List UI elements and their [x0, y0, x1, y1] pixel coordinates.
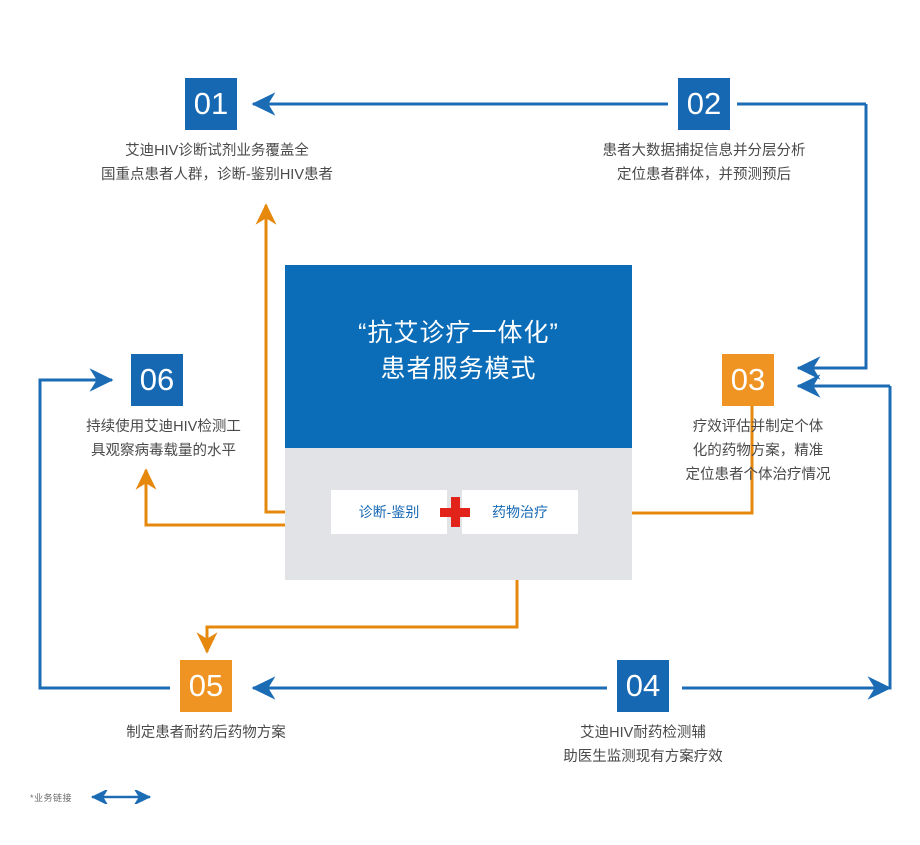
node-04-description: 艾迪HIV耐药检测辅 助医生监测现有方案疗效: [543, 721, 743, 769]
node-05-number: 05: [189, 668, 223, 704]
node-03[interactable]: 03 疗效评估并制定个体 化的药物方案，精准 定位患者个体治疗情况: [722, 354, 842, 487]
node-04[interactable]: 04 艾迪HIV耐药检测辅 助医生监测现有方案疗效: [617, 660, 743, 769]
center-title-line2: 患者服务模式: [285, 351, 632, 387]
node-06-description: 持续使用艾迪HIV检测工 具观察病毒载量的水平: [71, 415, 256, 463]
node-02-badge: 02: [678, 78, 730, 130]
node-03-number: 03: [731, 362, 765, 398]
node-03-description: 疗效评估并制定个体 化的药物方案，精准 定位患者个体治疗情况: [674, 415, 842, 487]
node-05[interactable]: 05 制定患者耐药后药物方案: [180, 660, 321, 745]
content-layer: “抗艾诊疗一体化” 患者服务模式 诊断-鉴别 药物治疗 01 艾迪HIV诊断试剂…: [0, 0, 920, 845]
pill-diagnosis-label: 诊断-鉴别: [359, 502, 420, 522]
node-01-description: 艾迪HIV诊断试剂业务覆盖全 国重点患者人群，诊断-鉴别HIV患者: [87, 139, 347, 187]
node-02[interactable]: 02 患者大数据捕捉信息并分层分析 定位患者群体，并预测预后: [678, 78, 834, 187]
node-01-number: 01: [194, 86, 228, 122]
legend: *业务链接: [30, 790, 156, 804]
center-title-line1: “抗艾诊疗一体化”: [285, 315, 632, 351]
node-02-number: 02: [687, 86, 721, 122]
node-06-number: 06: [140, 362, 174, 398]
legend-label: *业务链接: [30, 791, 72, 804]
node-01-badge: 01: [185, 78, 237, 130]
pill-diagnosis[interactable]: 诊断-鉴别: [331, 490, 447, 534]
node-04-number: 04: [626, 668, 660, 704]
double-headed-arrow-icon: [86, 790, 156, 804]
diagram-canvas: “抗艾诊疗一体化” 患者服务模式 诊断-鉴别 药物治疗 01 艾迪HIV诊断试剂…: [0, 0, 920, 845]
node-04-badge: 04: [617, 660, 669, 712]
node-02-description: 患者大数据捕捉信息并分层分析 定位患者群体，并预测预后: [574, 139, 834, 187]
center-title: “抗艾诊疗一体化” 患者服务模式: [285, 315, 632, 387]
node-01[interactable]: 01 艾迪HIV诊断试剂业务覆盖全 国重点患者人群，诊断-鉴别HIV患者: [185, 78, 347, 187]
red-cross-icon: [440, 497, 470, 527]
pill-medication-label: 药物治疗: [492, 502, 548, 522]
node-05-badge: 05: [180, 660, 232, 712]
node-06-badge: 06: [131, 354, 183, 406]
node-05-description: 制定患者耐药后药物方案: [91, 721, 321, 745]
pill-medication[interactable]: 药物治疗: [462, 490, 578, 534]
node-06[interactable]: 06 持续使用艾迪HIV检测工 具观察病毒载量的水平: [131, 354, 256, 463]
node-03-badge: 03: [722, 354, 774, 406]
